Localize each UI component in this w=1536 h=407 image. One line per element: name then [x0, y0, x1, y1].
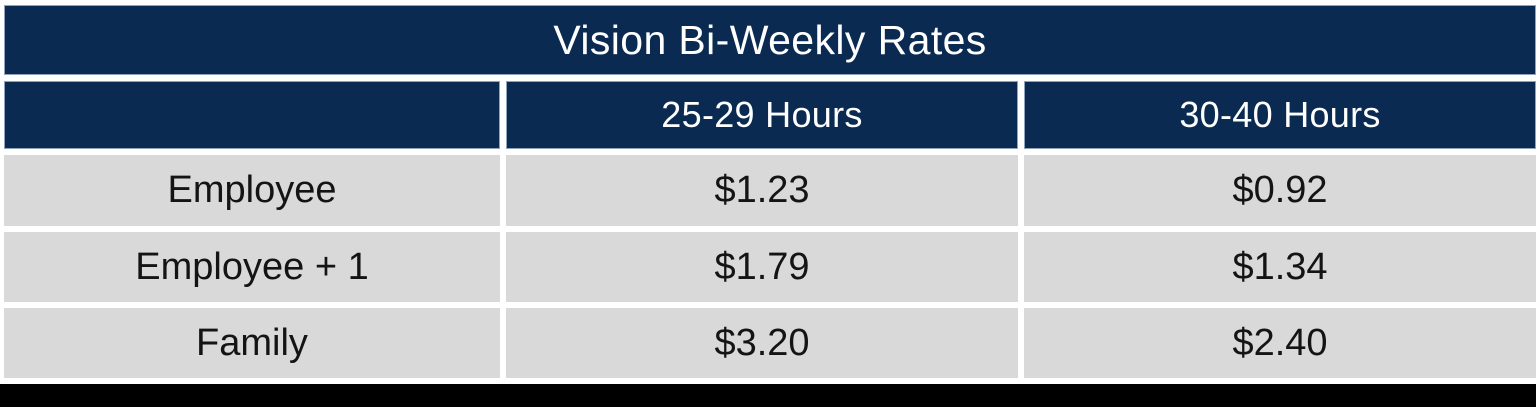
column-header-25-29-hours: 25-29 Hours	[506, 81, 1018, 149]
rate-employee-25-29: $1.23	[506, 155, 1018, 225]
table-row: Employee $1.23 $0.92	[4, 155, 1536, 225]
rate-family-25-29: $3.20	[506, 308, 1018, 378]
vision-bi-weekly-rates-table: Vision Bi-Weekly Rates 25-29 Hours 30-40…	[0, 0, 1536, 384]
rate-table-page: Vision Bi-Weekly Rates 25-29 Hours 30-40…	[0, 0, 1536, 407]
table-title: Vision Bi-Weekly Rates	[4, 5, 1536, 75]
table-row: Family $3.20 $2.40	[4, 308, 1536, 378]
row-label-employee: Employee	[4, 155, 500, 225]
rate-employee-plus-1-25-29: $1.79	[506, 232, 1018, 302]
table-title-row: Vision Bi-Weekly Rates	[4, 5, 1536, 75]
row-label-employee-plus-1: Employee + 1	[4, 232, 500, 302]
rate-family-30-40: $2.40	[1024, 308, 1536, 378]
table-header-row: 25-29 Hours 30-40 Hours	[4, 81, 1536, 149]
rate-employee-30-40: $0.92	[1024, 155, 1536, 225]
table-row: Employee + 1 $1.79 $1.34	[4, 232, 1536, 302]
rate-employee-plus-1-30-40: $1.34	[1024, 232, 1536, 302]
header-corner-cell	[4, 81, 500, 149]
column-header-30-40-hours: 30-40 Hours	[1024, 81, 1536, 149]
row-label-family: Family	[4, 308, 500, 378]
